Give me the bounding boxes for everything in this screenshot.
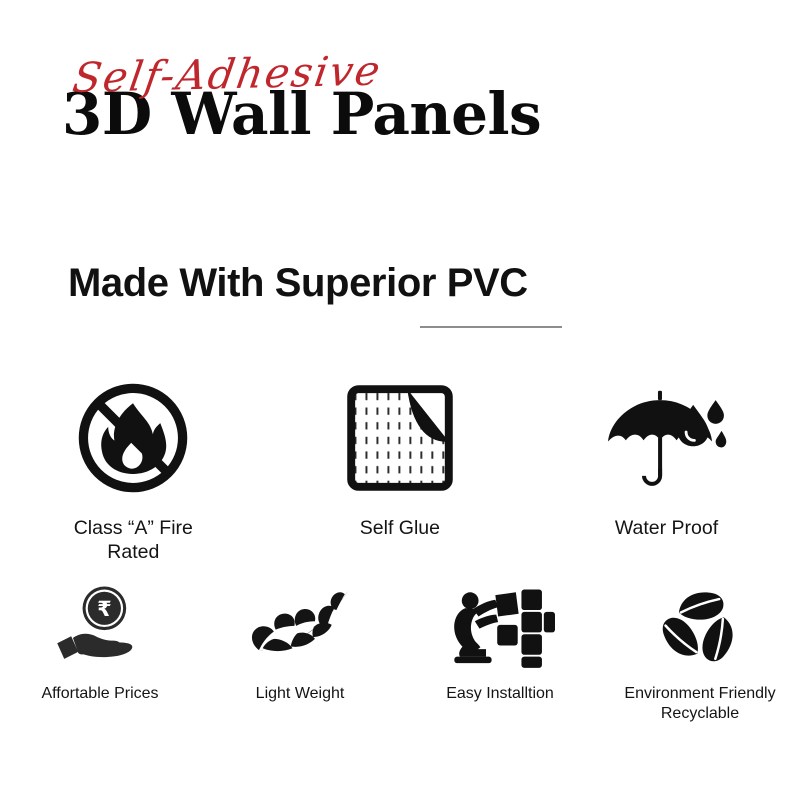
- section-heading: Made With Superior PVC: [68, 262, 748, 304]
- feature-label: Self Glue: [360, 516, 440, 540]
- feature-easy-installation: Easy Installtion: [400, 578, 600, 724]
- feature-environment-friendly: Environment Friendly Recyclable: [600, 578, 800, 724]
- feature-label: Affortable Prices: [41, 684, 158, 704]
- person-installing-panels-icon: [445, 578, 555, 670]
- self-glue-peel-icon: [339, 372, 461, 504]
- infographic-page: Self-Adhesive 3D Wall Panels Made With S…: [0, 0, 800, 800]
- title-block: Self-Adhesive 3D Wall Panels: [62, 58, 682, 143]
- feature-label: Easy Installtion: [446, 684, 554, 704]
- feature-light-weight: Light Weight: [200, 578, 400, 724]
- feature-label: Environment Friendly Recyclable: [624, 684, 775, 724]
- feature-label: Water Proof: [615, 516, 718, 540]
- feather-icon: [244, 578, 356, 670]
- feature-label: Class “A” Fire Rated: [74, 516, 193, 565]
- hand-rupee-coin-icon: ₹: [52, 578, 148, 670]
- section-divider: [420, 326, 562, 328]
- no-fire-icon: [71, 372, 195, 504]
- feature-label: Light Weight: [256, 684, 345, 704]
- section-title: Made With Superior PVC: [68, 262, 748, 304]
- umbrella-water-drops-icon: [601, 372, 731, 504]
- feature-self-glue: Self Glue: [267, 372, 534, 565]
- feature-water-proof: Water Proof: [533, 372, 800, 565]
- recycle-leaves-icon: [652, 578, 748, 670]
- svg-text:₹: ₹: [97, 597, 112, 621]
- feature-row-top: Class “A” Fire Rated: [0, 372, 800, 565]
- feature-affordable-prices: ₹ Affortable Prices: [0, 578, 200, 724]
- feature-row-bottom: ₹ Affortable Prices: [0, 578, 800, 724]
- feature-fire-rated: Class “A” Fire Rated: [0, 372, 267, 565]
